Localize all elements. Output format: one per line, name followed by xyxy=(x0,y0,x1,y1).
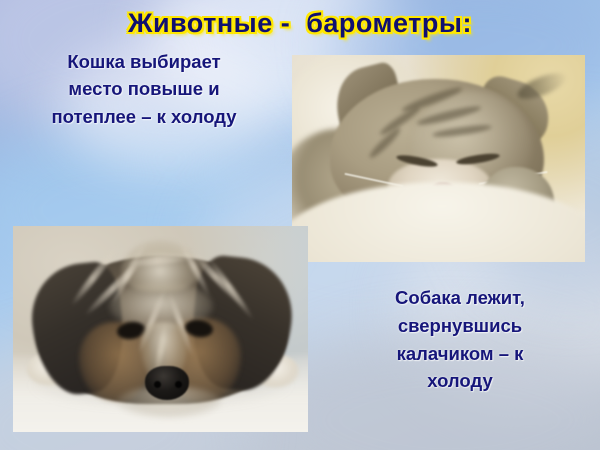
kitten-image-canvas xyxy=(292,55,585,262)
sleeping-kitten-photo xyxy=(292,55,585,262)
dog-nose xyxy=(145,366,189,400)
dog-caption-text: Собака лежит, свернувшись калачиком – к … xyxy=(330,284,590,395)
dog-nostril xyxy=(154,381,161,388)
dog-image-canvas xyxy=(13,226,308,432)
cat-caption-text: Кошка выбирает место повыше и потеплее –… xyxy=(0,48,288,130)
dog-nostril xyxy=(175,381,182,388)
slide-title: Животные - барометры: xyxy=(0,8,600,39)
resting-dog-photo xyxy=(13,226,308,432)
presentation-slide: Животные - барометры: Кошка выбирает мес… xyxy=(0,0,600,450)
